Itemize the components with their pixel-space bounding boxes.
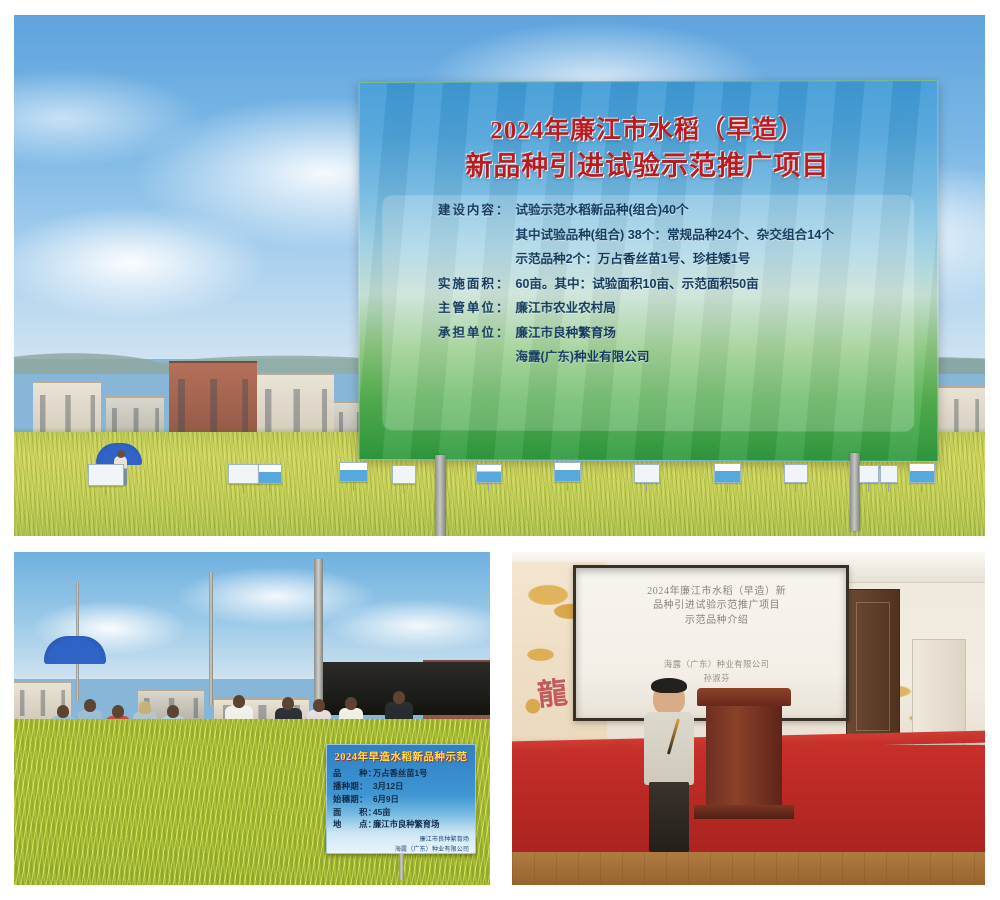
field-marker-sign (392, 465, 416, 484)
sign-row: 播种期： 3月12日 (333, 780, 469, 793)
banner-row: 承担单位： 廉江市良种繁育场 (438, 321, 904, 346)
field-marker-sign (339, 462, 368, 482)
sign-post (399, 854, 404, 880)
sign-row: 面 积： 45亩 (333, 806, 469, 819)
demonstration-sign: 2024年早造水稻新品种示范 品 种： 万占香丝苗1号 播种期： 3月12日 始… (326, 744, 476, 854)
podium (706, 699, 782, 812)
banner-row-value: 廉江市农业农村局 (515, 296, 904, 321)
project-banner: 2024年廉江市水稻（早造） 新品种引进试验示范推广项目 建设内容： 试验示范水… (359, 80, 939, 462)
speaker-legs (649, 782, 689, 852)
sign-row-value: 6月9日 (373, 793, 399, 806)
banner-row-label: 建设内容： (438, 198, 516, 223)
sign-title: 2024年早造水稻新品种示范 (333, 749, 469, 764)
sign-row-key: 品 种： (333, 767, 373, 780)
sign-row: 始穗期： 6月9日 (333, 793, 469, 806)
sign-row-value: 3月12日 (373, 780, 403, 793)
slide-title-line2: 品种引进试验示范推广项目 (609, 599, 825, 614)
banner-row: 建设内容： 其中试验品种(组合) 38个：常规品种24个、杂交组合14个 (438, 222, 904, 247)
sign-row-key: 地 点： (333, 818, 373, 831)
presentation-hall-photo: 龍 2024年廉江市水稻（早造）新 品种引进试验示范推广项目 示范品种介绍 海露… (512, 552, 985, 885)
photo-collage: 2024年廉江市水稻（早造） 新品种引进试验示范推广项目 建设内容： 试验示范水… (0, 0, 1000, 900)
field-inspection-photo: 2024年早造水稻新品种示范 品 种： 万占香丝苗1号 播种期： 3月12日 始… (14, 552, 490, 885)
banner-row: 建设内容： 示范品种2个：万占香丝苗1号、珍桂矮1号 (438, 247, 904, 272)
slide-presenter: 海露（广东）种业有限公司 孙淑芬 (609, 658, 825, 686)
sign-row-key: 面 积： (333, 806, 373, 819)
banner-row: 主管单位： 廉江市农业农村局 (438, 296, 904, 321)
field-marker-sign (634, 464, 660, 483)
banner-row-value: 示范品种2个：万占香丝苗1号、珍桂矮1号 (515, 247, 904, 272)
banner-title: 2024年廉江市水稻（早造） 新品种引进试验示范推广项目 (382, 108, 914, 185)
sign-row: 地 点： 廉江市良种繁育场 (333, 818, 469, 831)
sign-row-value: 45亩 (373, 806, 391, 819)
banner-row-label: 承担单位： (438, 321, 516, 346)
sign-row-value: 万占香丝苗1号 (373, 767, 427, 780)
podium-top (697, 688, 791, 706)
sign-row: 品 种： 万占香丝苗1号 (333, 767, 469, 780)
banner-row-value: 其中试验品种(组合) 38个：常规品种24个、杂交组合14个 (515, 222, 904, 247)
banner-row-label: 主管单位： (438, 296, 516, 321)
banner-row-value: 试验示范水稻新品种(组合)40个 (515, 198, 904, 223)
slide-title-line3: 示范品种介绍 (609, 614, 825, 629)
field-marker-sign (228, 464, 260, 484)
field-marker-sign (88, 464, 124, 486)
slide-presenter-org: 海露（广东）种业有限公司 (609, 658, 825, 672)
banner-title-line2: 新品种引进试验示范推广项目 (382, 147, 914, 184)
banner-row: 承担单位： 海露(广东)种业有限公司 (438, 345, 904, 370)
sign-row-key: 始穗期： (333, 793, 373, 806)
slide-presenter-name: 孙淑芬 (609, 672, 825, 686)
field-marker-sign (909, 463, 935, 483)
sign-footer: 廉江市良种繁育场 海露（广东）种业有限公司 (333, 835, 469, 854)
wall-cabinet (846, 589, 900, 744)
banner-row-value: 60亩。其中：试验面积10亩、示范面积50亩 (515, 272, 904, 297)
speaker-person (644, 682, 694, 849)
field-banner-photo: 2024年廉江市水稻（早造） 新品种引进试验示范推广项目 建设内容： 试验示范水… (14, 15, 985, 536)
field-marker-sign (258, 464, 282, 484)
field-marker-sign (476, 464, 502, 483)
slide-title-line1: 2024年廉江市水稻（早造）新 (609, 585, 825, 600)
wood-floor (512, 852, 985, 885)
banner-row-label: 实施面积： (438, 272, 516, 296)
sign-row-value: 廉江市良种繁育场 (373, 818, 439, 831)
field-marker-sign (714, 463, 741, 483)
banner-title-line1: 2024年廉江市水稻（早造） (382, 114, 914, 149)
field-marker-sign (554, 462, 581, 482)
banner-row-value: 海露(广东)种业有限公司 (515, 345, 904, 370)
sign-footer-line1: 廉江市良种繁育场 (333, 835, 469, 844)
sign-footer-line2: 海露（广东）种业有限公司 (333, 845, 469, 854)
banner-row: 建设内容： 试验示范水稻新品种(组合)40个 (438, 198, 904, 223)
banner-row-value: 廉江市良种繁育场 (515, 321, 904, 346)
banner-row: 实施面积： 60亩。其中：试验面积10亩、示范面积50亩 (438, 272, 904, 297)
sign-row-key: 播种期： (333, 780, 373, 793)
field-marker-sign (784, 464, 808, 483)
banner-body: 建设内容： 试验示范水稻新品种(组合)40个 建设内容： 其中试验品种(组合) … (382, 198, 914, 371)
field-marker-sign (880, 465, 898, 483)
banner-post (435, 455, 446, 536)
field-marker-sign (859, 465, 879, 483)
slide-title: 2024年廉江市水稻（早造）新 品种引进试验示范推广项目 示范品种介绍 (609, 585, 825, 629)
speaker-head (653, 682, 685, 715)
podium-base (694, 805, 794, 819)
umbrella-icon (44, 636, 106, 664)
calligraphy-glyph: 龍 (534, 668, 568, 715)
